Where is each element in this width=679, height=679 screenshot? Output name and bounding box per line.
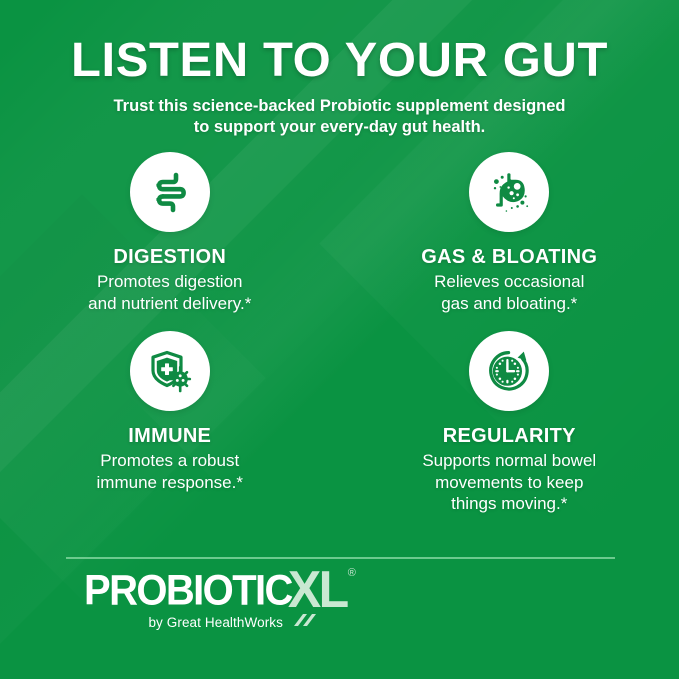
benefit-card-regularity: REGULARITY Supports normal bowel movemen… xyxy=(340,331,679,515)
clock-arrow-icon xyxy=(484,346,534,396)
swoosh-icon xyxy=(286,613,316,632)
logo-tagline-row: by Great HealthWorks xyxy=(84,613,316,631)
benefit-description-line: Supports normal bowel xyxy=(422,450,596,472)
benefit-title: IMMUNE xyxy=(128,425,211,447)
benefit-description-line: Promotes a robust xyxy=(97,450,243,472)
icon-badge xyxy=(130,152,210,232)
benefits-grid: DIGESTION Promotes digestion and nutrien… xyxy=(0,152,679,515)
benefit-description-line: and nutrient delivery.* xyxy=(88,293,251,315)
benefit-title: DIGESTION xyxy=(113,246,226,268)
icon-badge xyxy=(469,331,549,411)
logo-brand-main: PROBIOTIC xyxy=(84,570,292,612)
benefit-description-line: gas and bloating.* xyxy=(434,293,584,315)
subheadline-line: Trust this science-backed Probiotic supp… xyxy=(80,96,600,117)
promo-poster: LISTEN TO YOUR GUT Trust this science-ba… xyxy=(0,0,679,679)
benefit-description-line: Relieves occasional xyxy=(434,271,584,293)
benefits-row: IMMUNE Promotes a robust immune response… xyxy=(0,331,679,515)
benefit-title: REGULARITY xyxy=(443,425,576,447)
benefit-description-line: things moving.* xyxy=(422,493,596,515)
logo-brand-accent: XL xyxy=(288,566,347,612)
benefit-description-line: movements to keep xyxy=(422,472,596,494)
benefit-card-digestion: DIGESTION Promotes digestion and nutrien… xyxy=(0,152,340,314)
benefit-card-immune: IMMUNE Promotes a robust immune response… xyxy=(0,331,340,515)
registered-trademark-icon: ® xyxy=(348,568,356,579)
benefit-description: Relieves occasional gas and bloating.* xyxy=(434,271,584,314)
subheadline-line: to support your every-day gut health. xyxy=(80,117,600,138)
intestine-icon xyxy=(146,168,194,216)
subheadline: Trust this science-backed Probiotic supp… xyxy=(80,96,600,138)
benefit-card-gas-bloating: GAS & BLOATING Relieves occasional gas a… xyxy=(340,152,679,314)
page-title: LISTEN TO YOUR GUT xyxy=(0,34,679,88)
benefit-description-line: Promotes digestion xyxy=(88,271,251,293)
benefits-row: DIGESTION Promotes digestion and nutrien… xyxy=(0,152,679,314)
stomach-bubbles-icon xyxy=(484,167,534,217)
logo-tagline: by Great HealthWorks xyxy=(148,615,283,630)
shield-virus-icon xyxy=(145,346,195,396)
benefit-description: Promotes a robust immune response.* xyxy=(97,450,243,493)
header: LISTEN TO YOUR GUT Trust this science-ba… xyxy=(0,34,679,138)
benefit-description: Supports normal bowel movements to keep … xyxy=(422,450,596,515)
icon-badge xyxy=(469,152,549,232)
benefit-description-line: immune response.* xyxy=(97,472,243,494)
benefit-title: GAS & BLOATING xyxy=(421,246,597,268)
icon-badge xyxy=(130,331,210,411)
benefit-description: Promotes digestion and nutrient delivery… xyxy=(88,271,251,314)
brand-logo: PROBIOTIC XL ® by Great HealthWorks xyxy=(84,566,384,644)
divider xyxy=(66,557,615,559)
logo-wordmark: PROBIOTIC XL ® xyxy=(84,566,384,612)
